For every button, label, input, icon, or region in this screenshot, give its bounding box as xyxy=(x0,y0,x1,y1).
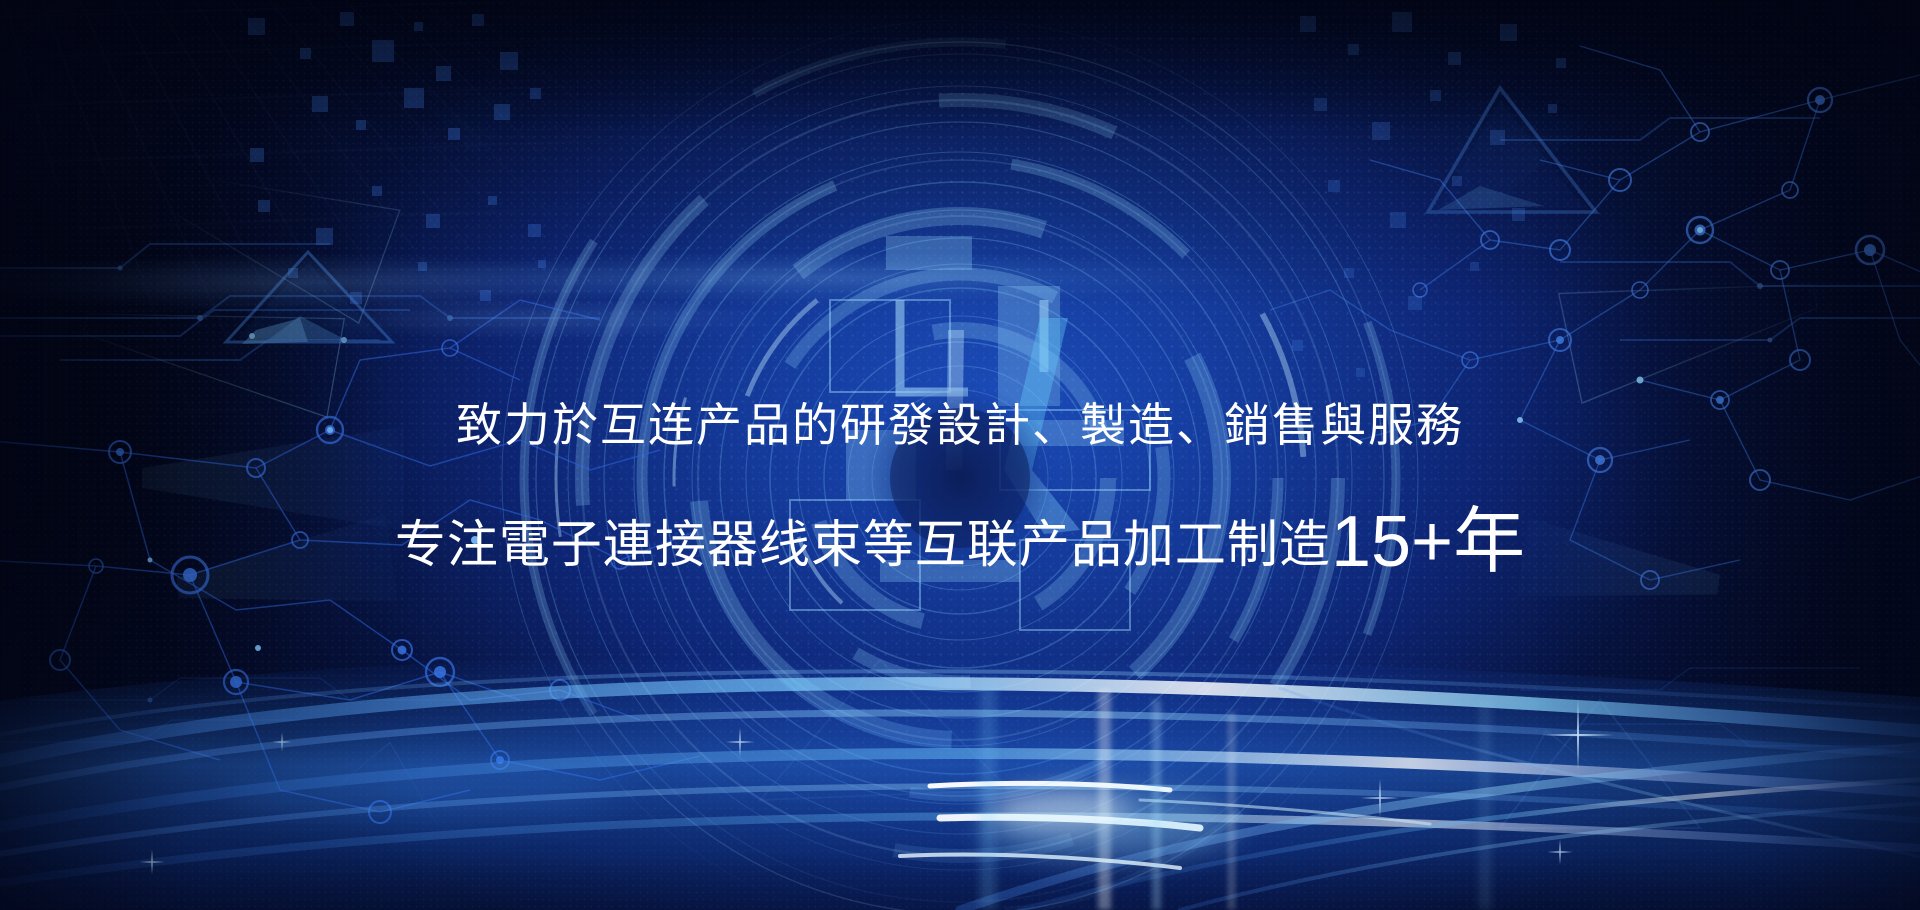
headline-line-2: 专注電子連接器线束等互联产品加工制造15+年 xyxy=(0,506,1920,578)
sparkle-star xyxy=(725,727,755,757)
tech-banner: 致力於互连产品的研發設計、製造、銷售與服務 专注電子連接器线束等互联产品加工制造… xyxy=(0,0,1920,910)
headline-line-2-prefix: 专注電子連接器线束等互联产品加工制造 xyxy=(395,516,1331,573)
headline-block: 致力於互连产品的研發設計、製造、銷售與服務 专注電子連接器线束等互联产品加工制造… xyxy=(0,402,1920,578)
headline-years-highlight: 15+年 xyxy=(1331,502,1525,582)
headline-line-1: 致力於互连产品的研發設計、製造、銷售與服務 xyxy=(0,402,1920,448)
sparkle-star xyxy=(1547,839,1573,865)
sparkle-star xyxy=(139,849,165,875)
sparkle-star xyxy=(1360,778,1400,818)
sparkle-star xyxy=(272,732,292,752)
sparkle-star xyxy=(1541,698,1615,772)
